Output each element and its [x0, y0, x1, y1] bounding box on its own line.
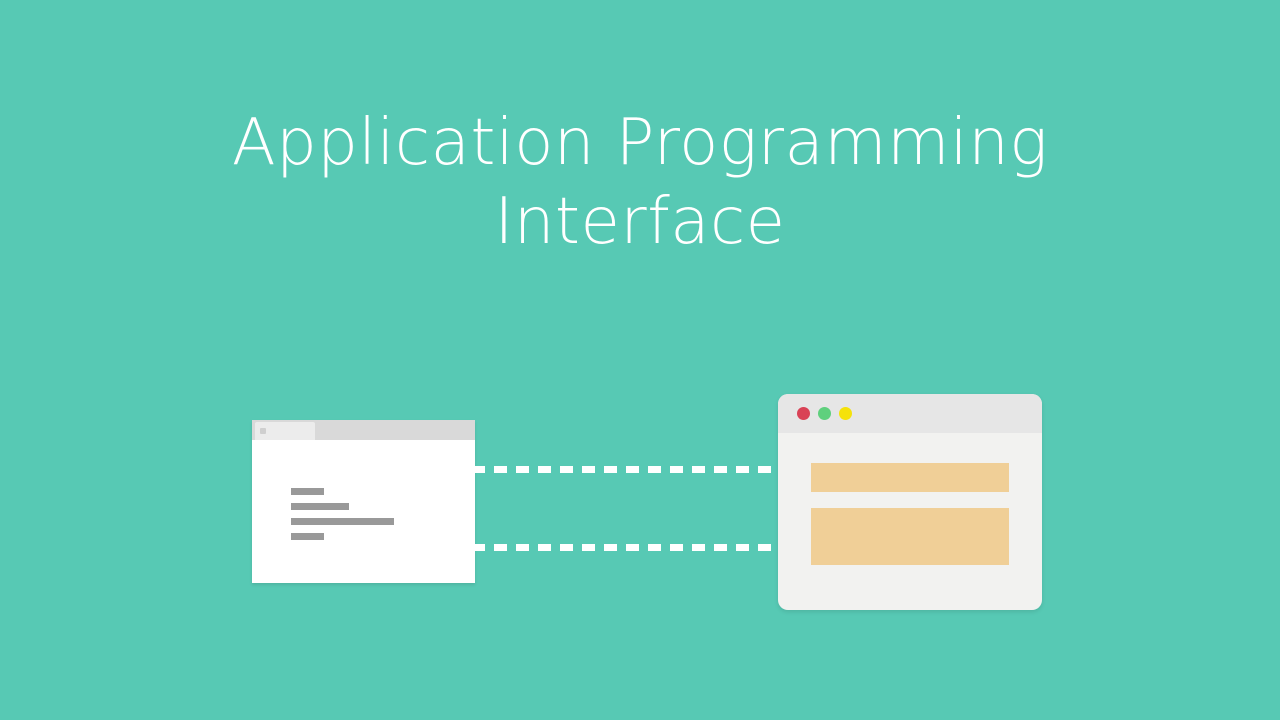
maximize-icon[interactable] — [839, 407, 852, 420]
list-item — [291, 488, 324, 495]
slide-canvas: Application Programming Interface — [0, 0, 1280, 720]
page-title: Application Programming Interface — [0, 104, 1280, 262]
document-window[interactable] — [252, 420, 475, 583]
content-panel-primary — [811, 463, 1009, 492]
minimize-icon[interactable] — [818, 407, 831, 420]
content-panel-secondary — [811, 508, 1009, 565]
document-window-titlebar — [252, 420, 475, 440]
close-icon[interactable] — [797, 407, 810, 420]
document-window-tab[interactable] — [255, 422, 315, 440]
list-item — [291, 503, 349, 510]
list-item — [291, 518, 394, 525]
list-item — [291, 533, 324, 540]
connector-response-line — [472, 544, 782, 551]
connector-request-line — [472, 466, 782, 473]
browser-window[interactable] — [778, 394, 1042, 610]
document-window-body — [252, 440, 475, 583]
browser-window-titlebar — [778, 394, 1042, 433]
document-content-lines — [291, 488, 394, 548]
tab-favicon-icon — [260, 428, 266, 434]
